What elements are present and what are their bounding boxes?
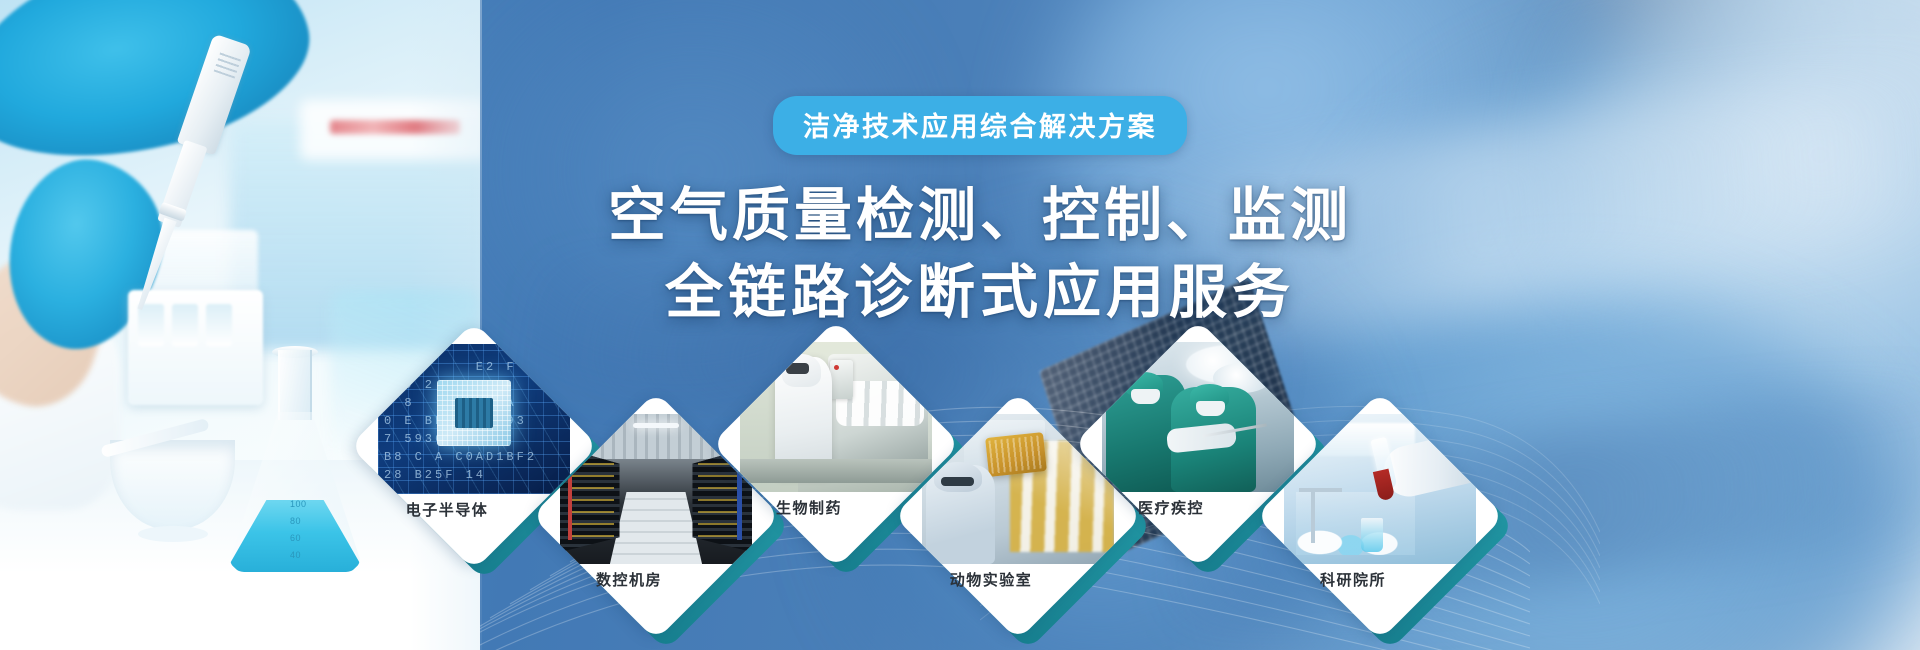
card-image	[1268, 404, 1492, 628]
semiconductor-chip-icon: C A E2 F D5 9 2 67 8 1 E2C A0 E BF3 A269…	[378, 344, 570, 494]
hero-banner: 100806040 洁净技术应用综合解决方案 空气质量检测、控制、监测 全链路诊…	[0, 0, 1920, 650]
card-frame	[1256, 392, 1505, 641]
industry-card-animal-lab[interactable]: 动物实验室	[930, 428, 1106, 604]
surgery-medical-icon	[1102, 342, 1294, 492]
industry-card-row: C A E2 F D5 9 2 67 8 1 E2C A0 E BF3 A269…	[0, 0, 1920, 650]
test-tube-lab-icon	[1284, 414, 1476, 564]
biopharma-cleanroom-icon	[740, 342, 932, 492]
industry-card-research[interactable]: 科研院所	[1292, 428, 1468, 604]
industry-card-semiconductor[interactable]: C A E2 F D5 9 2 67 8 1 E2C A0 E BF3 A269…	[386, 358, 562, 534]
industry-card-biopharma[interactable]: 生物制药	[748, 356, 924, 532]
industry-card-medical[interactable]: 医疗疾控	[1110, 356, 1286, 532]
industry-card-data-center[interactable]: 数控机房	[568, 428, 744, 604]
